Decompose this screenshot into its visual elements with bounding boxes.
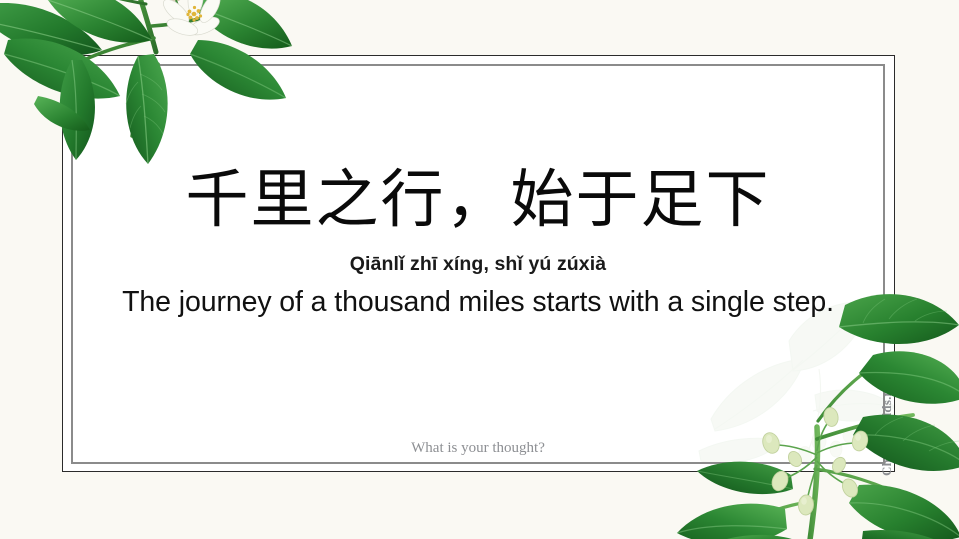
proverb-content: 千里之行，始于足下 Qiānlǐ zhī xíng, shǐ yú zúxià … xyxy=(71,64,885,464)
site-watermark: Chinese4kids.net xyxy=(879,326,895,476)
proverb-pinyin: Qiānlǐ zhī xíng, shǐ yú zúxià xyxy=(71,253,885,276)
watermark-holder: Chinese4kids.net xyxy=(857,138,877,298)
proverb-translation: The journey of a thousand miles starts w… xyxy=(71,286,885,319)
slide-canvas: 千里之行，始于足下 Qiānlǐ zhī xíng, shǐ yú zúxià … xyxy=(0,0,959,539)
proverb-hanzi: 千里之行，始于足下 xyxy=(71,168,885,231)
reflection-prompt: What is your thought? xyxy=(71,440,885,457)
